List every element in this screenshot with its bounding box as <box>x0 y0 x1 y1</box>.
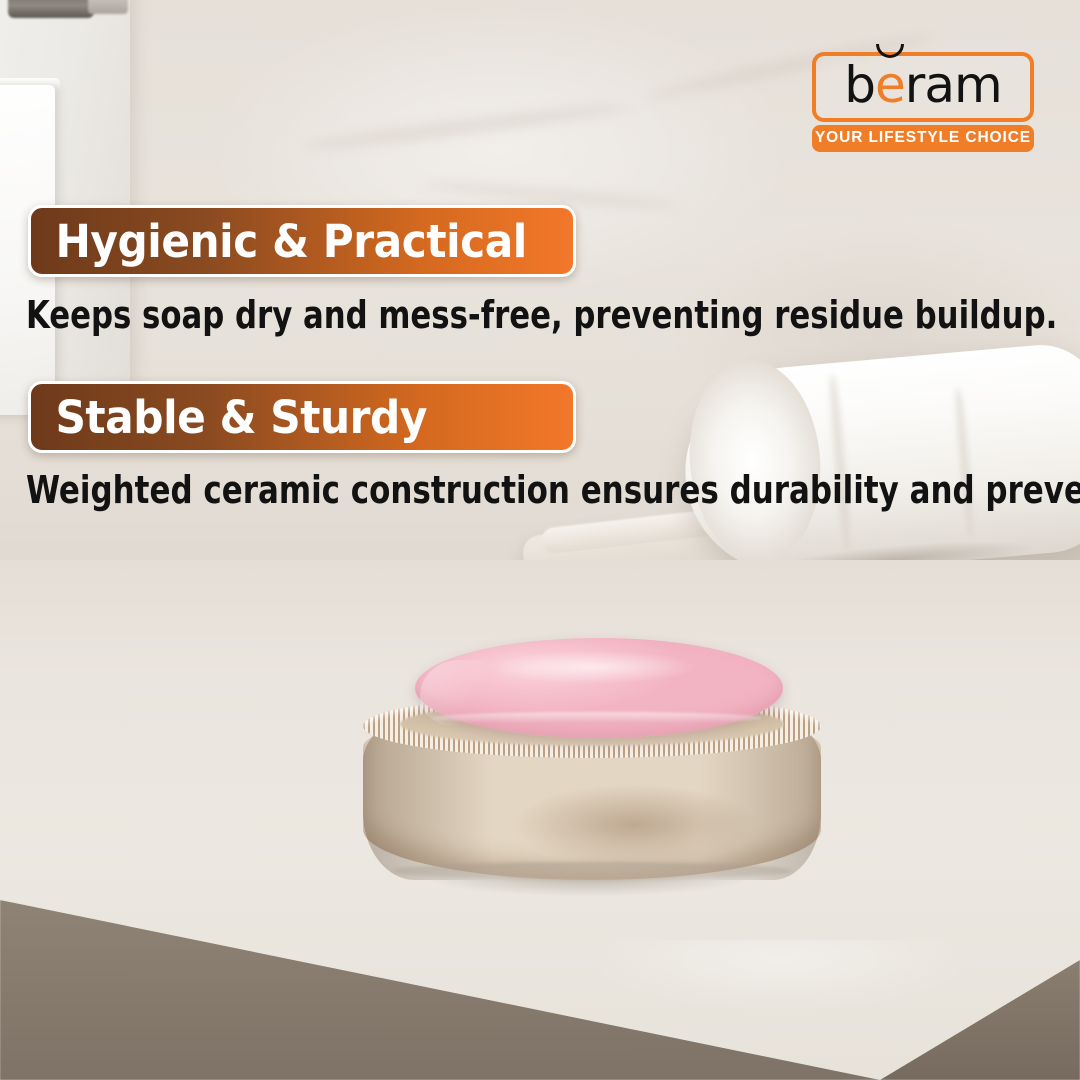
logo-letter-e-accent: e <box>875 60 905 110</box>
brand-logo: b e ram YOUR LIFESTYLE CHOICE <box>812 52 1034 152</box>
logo-letters-ram: ram <box>905 60 1002 110</box>
product-feature-poster: b e ram YOUR LIFESTYLE CHOICE Hygienic &… <box>0 0 1080 1080</box>
logo-letter-b: b <box>844 60 875 110</box>
logo-wordmark: b e ram <box>844 60 1001 110</box>
logo-letter-e-glyph: e <box>875 56 905 114</box>
feature-body-2: Weighted ceramic construction ensures du… <box>26 471 1080 509</box>
feature-heading-1: Hygienic & Practical <box>31 219 527 264</box>
feature-body-1: Keeps soap dry and mess-free, preventing… <box>26 296 1057 334</box>
logo-tagline: YOUR LIFESTYLE CHOICE <box>812 125 1034 152</box>
logo-outline-box: b e ram <box>812 52 1034 122</box>
feature-banner-2: Stable & Sturdy <box>28 381 576 453</box>
feature-heading-2: Stable & Sturdy <box>31 395 427 440</box>
feature-banner-1: Hygienic & Practical <box>28 205 576 277</box>
text-overlay: b e ram YOUR LIFESTYLE CHOICE Hygienic &… <box>0 0 1080 1080</box>
